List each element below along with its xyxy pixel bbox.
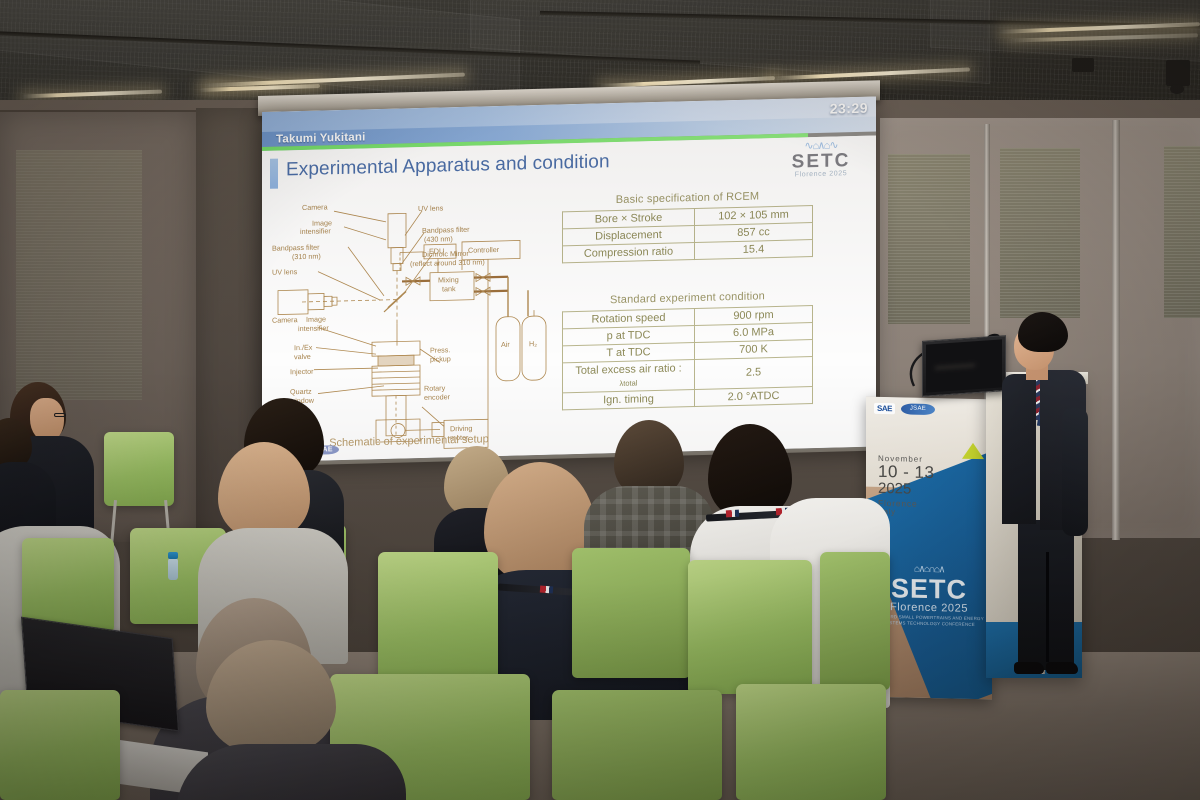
audience-chair[interactable] [736, 684, 886, 800]
audience-head [218, 442, 310, 540]
schematic-label: intensifier [300, 227, 331, 236]
schematic-label: encoder [424, 393, 450, 402]
laptop-screen [926, 339, 1002, 392]
schematic-label: Injector [290, 368, 314, 377]
window-blind [1000, 148, 1080, 318]
sae-logo: SAE [874, 403, 895, 414]
schematic-label: tank [442, 285, 456, 294]
speaker-shoe [1046, 662, 1078, 674]
security-camera [1166, 60, 1190, 86]
cell-key-line1: Total excess air ratio : [575, 362, 681, 377]
laptop-screen-glow [935, 363, 975, 371]
ceiling-sensor [1072, 58, 1094, 72]
speaker-leg-split [1046, 552, 1049, 662]
audience-head [206, 640, 336, 756]
schematic-label: Controller [468, 246, 499, 255]
schematic-label: (310 nm) [292, 253, 321, 262]
schematic-label: EDU [429, 247, 444, 256]
speaker-jacket-left [1002, 374, 1036, 524]
empty-chair[interactable] [104, 432, 174, 506]
banner-year: 2025 [878, 481, 934, 498]
audience-chair[interactable] [572, 548, 690, 678]
setc-logo-mark: SETC [778, 151, 864, 172]
bottle-cap [168, 552, 178, 559]
schematic-label: pickup [430, 355, 451, 364]
title-accent-bar [270, 159, 278, 189]
slide-title: Experimental Apparatus and condition [286, 151, 610, 181]
cell-value: 15.4 [695, 240, 813, 260]
lanyard-badge [726, 510, 739, 518]
cell-value: 2.5 [695, 357, 813, 390]
presenter-laptop[interactable] [922, 335, 1006, 397]
window-blind [16, 150, 142, 400]
speaker-shoe [1014, 662, 1044, 674]
lanyard-badge [540, 586, 553, 594]
slide-body: Experimental Apparatus and condition ∿⌂∧… [262, 135, 876, 462]
audience-chair[interactable] [688, 560, 812, 694]
jsae-logo: JSAE [901, 403, 935, 415]
schematic-label: Camera [272, 316, 298, 325]
schematic-label: H₂ [529, 340, 537, 349]
security-camera-lens [1170, 84, 1184, 94]
schematic-label: UV lens [272, 268, 297, 277]
audience-torso [176, 744, 406, 800]
audience-member [176, 640, 406, 800]
audience-chair[interactable] [552, 690, 722, 800]
basic-spec-table: Bore × Stroke 102 × 105 mm Displacement … [562, 205, 813, 263]
speaker-presenter [996, 312, 1092, 678]
schematic-label: intensifier [298, 324, 329, 333]
banner-green-accent [962, 443, 984, 459]
schematic-label: valve [294, 353, 311, 362]
cell-key: Compression ratio [563, 243, 695, 263]
water-bottle[interactable] [168, 558, 178, 580]
audience-chair[interactable] [820, 552, 890, 690]
cell-key: Ign. timing [563, 390, 695, 410]
cell-key-multiline: Total excess air ratio : λtotal [563, 360, 695, 393]
basic-spec-caption: Basic specification of RCEM [562, 189, 813, 207]
condition-caption: Standard experiment condition [562, 289, 813, 307]
schematic-label: UV lens [418, 204, 443, 213]
presentation-slide: 23:29 Takumi Yukitani Experimental Appar… [262, 96, 876, 462]
eyeglasses [54, 413, 66, 417]
window-blind [888, 154, 970, 324]
banner-org-logos: SAE JSAE [874, 403, 935, 415]
setc-logo: ∿⌂∧⌂∿ SETC Florence 2025 [778, 142, 864, 184]
audience-chair[interactable] [0, 690, 120, 800]
cell-value: 2.0 °ATDC [695, 387, 813, 407]
session-timer: 23:29 [830, 100, 868, 117]
setc-logo-sub: Florence 2025 [778, 170, 864, 179]
schematic-label: (430 nm) [424, 235, 453, 244]
speaker-arm [1062, 408, 1088, 536]
speaker-hair [1018, 312, 1068, 352]
cell-key-line2: λtotal [620, 378, 638, 387]
basic-spec-table-block: Basic specification of RCEM Bore × Strok… [562, 189, 813, 263]
condition-table-block: Standard experiment condition Rotation s… [562, 289, 813, 410]
schematic-label: Air [501, 341, 510, 350]
projection-screen: 23:29 Takumi Yukitani Experimental Appar… [262, 96, 876, 462]
condition-table: Rotation speed 900 rpm p at TDC 6.0 MPa … [562, 305, 813, 410]
schematic-label: Camera [302, 203, 328, 212]
window-mullion [1112, 120, 1120, 540]
window-blind [1164, 146, 1200, 318]
conference-room-photo: 23:29 Takumi Yukitani Experimental Appar… [0, 0, 1200, 800]
